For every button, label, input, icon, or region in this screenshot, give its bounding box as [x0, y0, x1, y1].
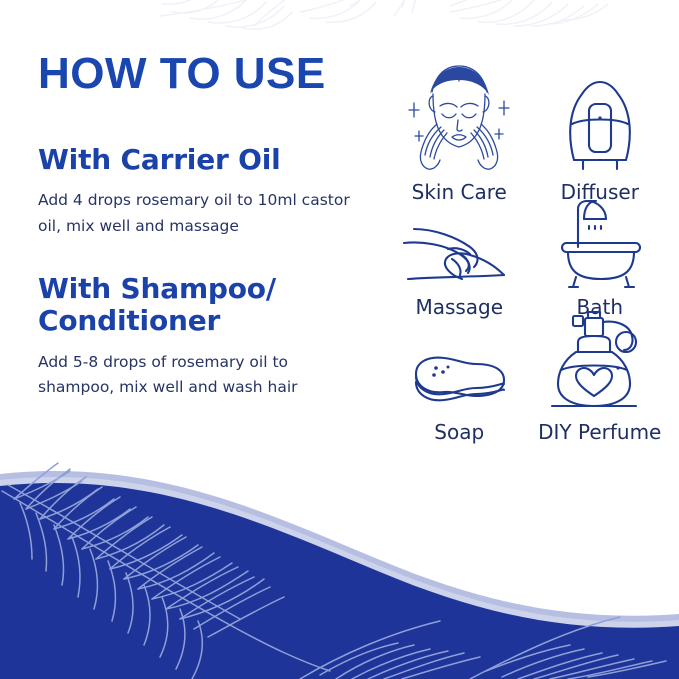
instructions-column: HOW TO USE With Carrier Oil Add 4 drops … [38, 52, 388, 434]
bathtub-shower-icon [548, 199, 652, 291]
usage-icon-grid: Skin Care Diffuser [392, 52, 667, 442]
usage-item-bath: Bath [533, 202, 668, 317]
perfume-atomizer-icon [544, 304, 656, 416]
how-to-use-infographic: HOW TO USE With Carrier Oil Add 4 drops … [0, 0, 679, 679]
diffuser-icon [552, 52, 648, 176]
usage-label-diy-perfume: DIY Perfume [538, 422, 661, 442]
usage-item-massage: Massage [392, 202, 527, 317]
usage-label-soap: Soap [434, 422, 484, 442]
usage-item-diy-perfume: DIY Perfume [533, 317, 668, 442]
instruction-heading-shampoo: With Shampoo/ Conditioner [38, 273, 388, 338]
soap-bar-icon [410, 317, 508, 416]
face-skincare-icon [400, 52, 518, 176]
instruction-heading-carrier-oil: With Carrier Oil [38, 144, 388, 176]
instruction-block-shampoo: With Shampoo/ Conditioner Add 5-8 drops … [38, 273, 388, 400]
usage-item-diffuser: Diffuser [533, 52, 668, 202]
instruction-body-carrier-oil: Add 4 drops rosemary oil to 10ml castor … [38, 188, 356, 238]
bottom-wave-graphic [0, 450, 679, 679]
rosemary-sprig-top-decoration [150, 0, 610, 42]
usage-label-skin-care: Skin Care [412, 182, 507, 202]
usage-item-skin-care: Skin Care [392, 52, 527, 202]
instruction-block-carrier-oil: With Carrier Oil Add 4 drops rosemary oi… [38, 144, 388, 239]
instruction-body-shampoo: Add 5-8 drops of rosemary oil to shampoo… [38, 350, 356, 400]
usage-label-massage: Massage [415, 297, 503, 317]
massage-hand-icon [400, 202, 518, 291]
page-title: HOW TO USE [38, 52, 388, 96]
usage-item-soap: Soap [392, 317, 527, 442]
